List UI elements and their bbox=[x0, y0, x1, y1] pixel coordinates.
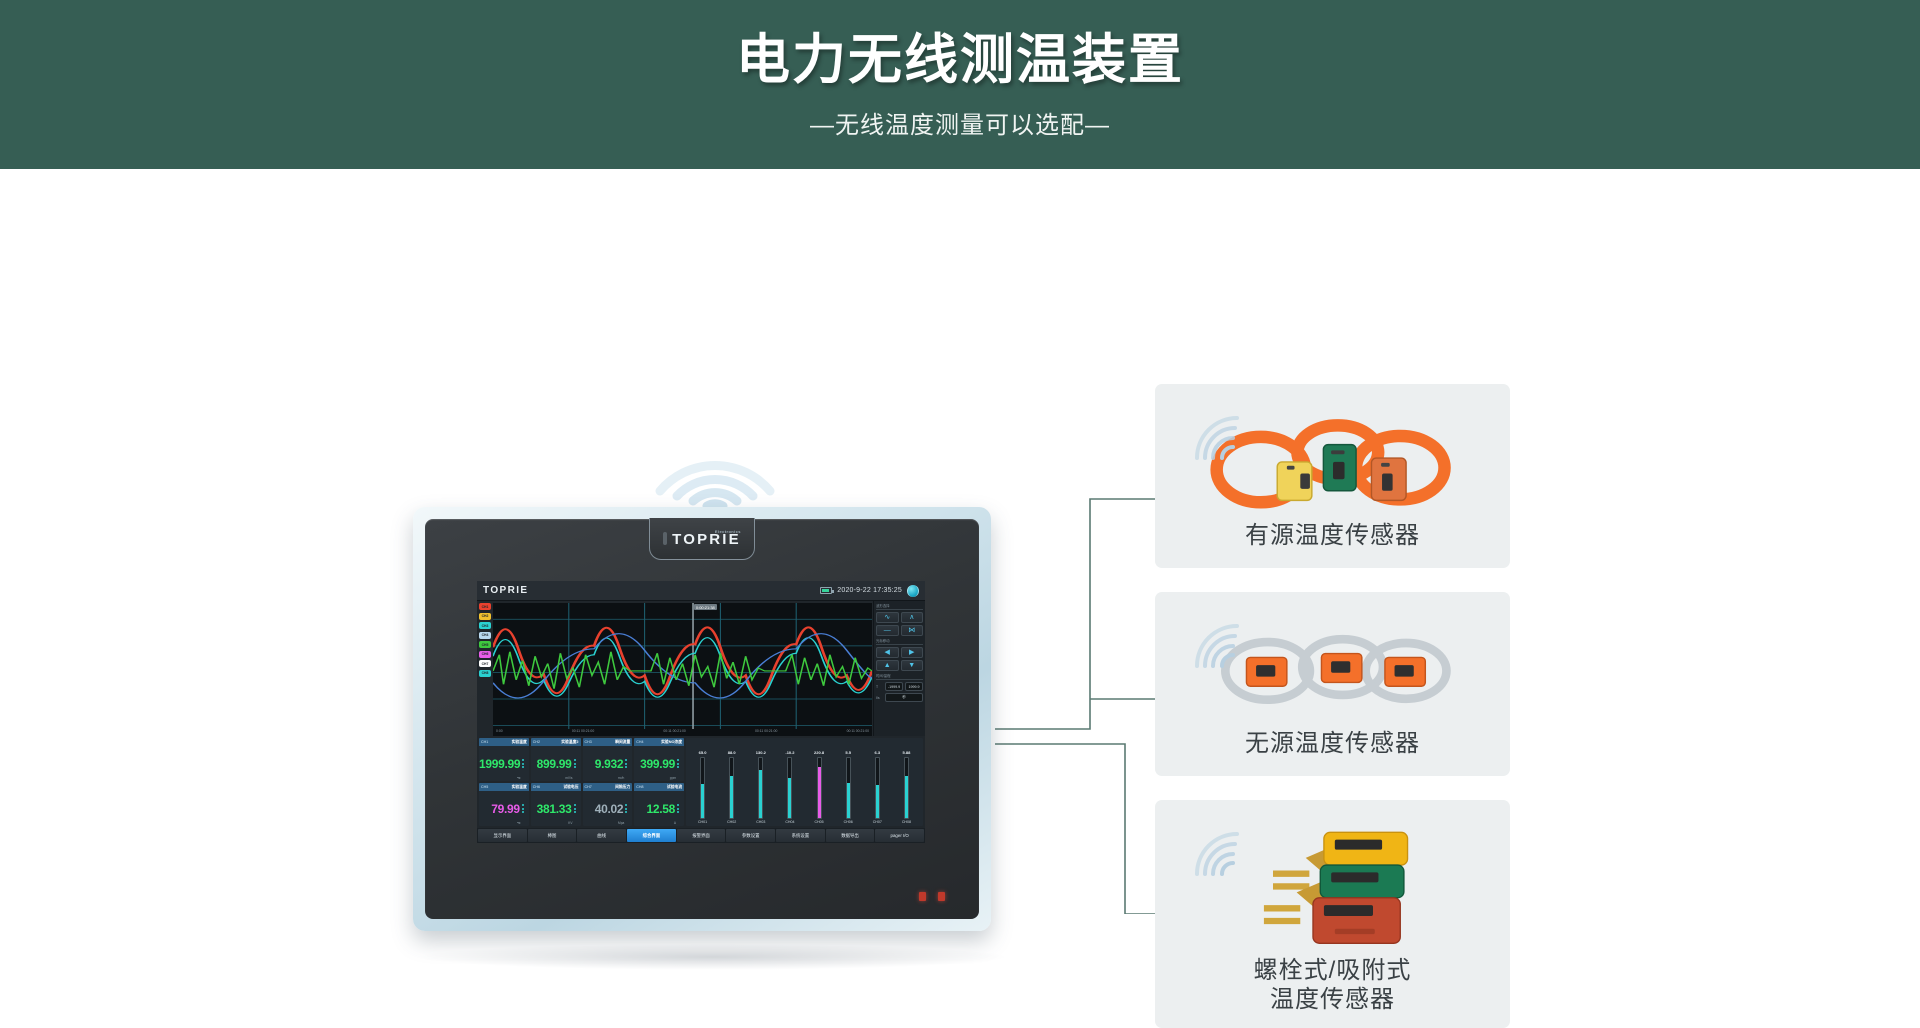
nav-button-group: ◀▶▲▼ bbox=[876, 647, 923, 671]
status-led-1 bbox=[919, 892, 926, 901]
page-title: 电力无线测温装置 bbox=[736, 29, 1184, 91]
bar-gauge[interactable]: 6.3CH07 bbox=[868, 750, 886, 824]
channel-chip-ch6[interactable]: CH6 bbox=[479, 651, 491, 658]
screen-tab[interactable]: 综合界面 bbox=[627, 829, 676, 842]
bar-gauge-track bbox=[729, 757, 734, 819]
nav-button-1[interactable]: ◀ bbox=[876, 647, 899, 658]
channel-value-body: 9.932m³/h bbox=[583, 746, 633, 781]
bar-gauge[interactable]: 130.2CH03 bbox=[752, 750, 770, 824]
channel-unit: m³/h bbox=[618, 776, 624, 780]
channel-chip-ch3[interactable]: CH3 bbox=[479, 622, 491, 629]
bar-gauge-value: 65.0 bbox=[699, 750, 707, 755]
bar-gauge-fill bbox=[730, 776, 733, 818]
channel-indicator-dots bbox=[574, 759, 579, 768]
bar-gauge-panel: 65.0CH0188.0CH02130.2CH03-10.2CH04220.8C… bbox=[686, 738, 923, 826]
nav-button-3[interactable]: ▲ bbox=[876, 660, 899, 671]
bar-gauge-fill bbox=[876, 785, 879, 817]
control-section-range: 时间/量程 bbox=[876, 673, 923, 680]
bar-gauge-track bbox=[904, 757, 909, 819]
channel-id: CH4 bbox=[636, 740, 643, 744]
active-sensor-art bbox=[1165, 400, 1500, 521]
bar-gauge-track bbox=[875, 757, 880, 819]
channel-value-body: 12.58A bbox=[634, 791, 684, 826]
channel-unit: A bbox=[674, 821, 676, 825]
channel-name: 实验NO浓度 bbox=[661, 740, 682, 745]
bar-gauge-label: CH06 bbox=[844, 820, 853, 824]
channel-value-cell[interactable]: CH8试验电流12.58A bbox=[634, 783, 684, 826]
nav-button-2[interactable]: ▶ bbox=[901, 647, 924, 658]
wave-button-1[interactable]: ∿ bbox=[876, 612, 899, 623]
x-tick-label: 0:00 bbox=[496, 729, 503, 736]
sensor-card-list: 有源温度传感器 bbox=[1155, 384, 1510, 1028]
control-section-nav: 光标移动 bbox=[876, 638, 923, 645]
channel-legend: CH1CH2CH3CH4CH5CH6CH7CH8 bbox=[477, 601, 493, 736]
bolt-sensors-illustration bbox=[1233, 816, 1433, 956]
channel-id: CH1 bbox=[481, 740, 488, 744]
channel-id: CH2 bbox=[533, 740, 540, 744]
channel-value-cell[interactable]: CH7间隙压力40.02Mpa bbox=[583, 783, 633, 826]
channel-value-cell[interactable]: CH3瞬间流量9.932m³/h bbox=[583, 738, 633, 781]
channel-name: 间隙压力 bbox=[615, 785, 630, 790]
wifi-signal-icon bbox=[1191, 414, 1249, 462]
channel-value-body: 399.99ppm bbox=[634, 746, 684, 781]
screen-tab[interactable]: 参数设置 bbox=[726, 829, 775, 842]
channel-value-header: CH7间隙压力 bbox=[583, 783, 633, 791]
wifi-signal-icon bbox=[640, 399, 790, 509]
channel-name: 试验电流 bbox=[667, 785, 682, 790]
channel-chip-ch4[interactable]: CH4 bbox=[479, 632, 491, 639]
bar-gauge-track bbox=[846, 757, 851, 819]
trend-chart-svg bbox=[493, 603, 872, 736]
channel-unit: Mpa bbox=[618, 821, 624, 825]
device-brand: Electronics TOPRIE bbox=[672, 529, 741, 548]
screen-middle: CH1CH2CH3CH4CH5CH6CH7CH8 bbox=[477, 601, 925, 736]
bar-gauge-track bbox=[787, 757, 792, 819]
channel-indicator-dots bbox=[522, 804, 527, 813]
screen-status-bar: TOPRIE 2020-9-22 17:35:25 bbox=[477, 581, 925, 601]
channel-id: CH6 bbox=[533, 785, 540, 789]
sensor-card-label: 有源温度传感器 bbox=[1245, 521, 1420, 550]
channel-value-grid: CH1实验温度1999.99℃CH2实验温度2899.99mV/sCH3瞬间流量… bbox=[479, 738, 684, 826]
device-led-group bbox=[919, 892, 945, 901]
channel-value: 79.99 bbox=[491, 802, 520, 816]
channel-value: 9.932 bbox=[595, 757, 624, 771]
device-logo-plate: Electronics TOPRIE bbox=[649, 518, 755, 560]
channel-id: CH7 bbox=[585, 785, 592, 789]
range-row2-label: I/s bbox=[876, 696, 883, 700]
channel-value: 381.33 bbox=[537, 802, 572, 816]
passive-sensor-art bbox=[1165, 608, 1500, 729]
bar-gauge-value: 5.5 bbox=[845, 750, 851, 755]
channel-chip-ch1[interactable]: CH1 bbox=[479, 603, 491, 610]
range-row-2: I/s 秒 bbox=[876, 693, 923, 702]
bar-gauge[interactable]: 5.5CH06 bbox=[839, 750, 857, 824]
screen-tab[interactable]: 数据导出 bbox=[826, 829, 875, 842]
datetime-label: 2020-9-22 17:35:25 bbox=[837, 587, 902, 594]
screen-tab[interactable]: 显示界面 bbox=[478, 829, 527, 842]
channel-value-cell[interactable]: CH6试验电压381.33KV bbox=[531, 783, 581, 826]
channel-value: 399.99 bbox=[640, 757, 675, 771]
channel-value-body: 40.02Mpa bbox=[583, 791, 633, 826]
bar-gauge-value: 220.8 bbox=[814, 750, 824, 755]
bar-gauge-label: CH05 bbox=[814, 820, 823, 824]
wave-button-3[interactable]: — bbox=[876, 625, 899, 636]
range-row-1: T -1999.9 1999.9 bbox=[876, 682, 923, 691]
screen-tab[interactable]: pager I/O bbox=[875, 829, 924, 842]
bar-gauge-label: CH07 bbox=[873, 820, 882, 824]
channel-value: 40.02 bbox=[595, 802, 624, 816]
screen-brand: TOPRIE bbox=[483, 585, 528, 596]
x-tick-label: 00:11 00:21:00 bbox=[572, 729, 594, 736]
status-led-2 bbox=[938, 892, 945, 901]
bar-gauge-fill bbox=[759, 770, 762, 818]
bar-gauge-label: CH02 bbox=[727, 820, 736, 824]
sensor-card-label: 螺栓式/吸附式 温度传感器 bbox=[1254, 956, 1412, 1015]
channel-id: CH8 bbox=[636, 785, 643, 789]
hmi-screen[interactable]: TOPRIE 2020-9-22 17:35:25 CH1CH2CH3CH4CH… bbox=[477, 581, 925, 843]
device-brand-text: TOPRIE bbox=[672, 531, 741, 548]
nav-button-4[interactable]: ▼ bbox=[901, 660, 924, 671]
channel-value-header: CH3瞬间流量 bbox=[583, 738, 633, 746]
chart-control-panel: 波形选择 ∿∧—⋈ 光标移动 ◀▶▲▼ 时间/量程 T -1999.9 1999… bbox=[873, 601, 925, 736]
bar-gauge[interactable]: 88.0CH02 bbox=[723, 750, 741, 824]
bar-gauge-value: 5.88 bbox=[903, 750, 911, 755]
page-header: 电力无线测温装置 —无线温度测量可以选配— bbox=[0, 0, 1920, 169]
bar-gauge-track bbox=[758, 757, 763, 819]
bar-gauge-fill bbox=[701, 784, 704, 818]
sensor-card-label: 无源温度传感器 bbox=[1245, 729, 1420, 758]
sensor-card-active[interactable]: 有源温度传感器 bbox=[1155, 384, 1510, 568]
bar-gauge[interactable]: 220.8CH05 bbox=[810, 750, 828, 824]
channel-unit: ppm bbox=[670, 776, 676, 780]
channel-name: 实验温度2 bbox=[561, 740, 578, 745]
screen-tab-bar: 显示界面棒图曲线综合界面报警界面参数设置系统设置数据导出pager I/O bbox=[477, 828, 925, 843]
bar-gauge-track bbox=[817, 757, 822, 819]
cursor-time-label: 0:00:21:38 bbox=[694, 604, 717, 610]
channel-chip-ch5[interactable]: CH5 bbox=[479, 641, 491, 648]
bar-gauge[interactable]: -10.2CH04 bbox=[781, 750, 799, 824]
channel-chip-ch2[interactable]: CH2 bbox=[479, 613, 491, 620]
bar-gauge[interactable]: 65.0CH01 bbox=[694, 750, 712, 824]
screen-tab[interactable]: 曲线 bbox=[577, 829, 626, 842]
device-shadow bbox=[415, 944, 1010, 970]
hmi-bezel: Electronics TOPRIE TOPRIE 2020-9-22 17:3… bbox=[425, 519, 979, 919]
bar-gauge-value: -10.2 bbox=[785, 750, 794, 755]
bar-gauge-fill bbox=[818, 767, 821, 817]
content-stage: Electronics TOPRIE TOPRIE 2020-9-22 17:3… bbox=[0, 169, 1920, 914]
channel-value-body: 899.99mV/s bbox=[531, 746, 581, 781]
channel-unit: KV bbox=[568, 821, 572, 825]
bar-gauge-label: CH01 bbox=[698, 820, 707, 824]
channel-value-header: CH8试验电流 bbox=[634, 783, 684, 791]
bar-gauge-value: 88.0 bbox=[728, 750, 736, 755]
channel-value-header: CH6试验电压 bbox=[531, 783, 581, 791]
screen-tab[interactable]: 系统设置 bbox=[776, 829, 825, 842]
channel-name: 瞬间流量 bbox=[615, 740, 630, 745]
trend-chart[interactable]: 0:00:21:38 0:0000:11 00:21:0000:11 00:21… bbox=[493, 603, 872, 736]
channel-value-body: 1999.99℃ bbox=[479, 746, 529, 781]
channel-name: 试验电压 bbox=[563, 785, 578, 790]
channel-value-cell[interactable]: CH4实验NO浓度399.99ppm bbox=[634, 738, 684, 781]
bar-gauge-value: 6.3 bbox=[875, 750, 881, 755]
range-unit[interactable]: 秒 bbox=[885, 693, 923, 702]
channel-value-header: CH2实验温度2 bbox=[531, 738, 581, 746]
channel-value-body: 381.33KV bbox=[531, 791, 581, 826]
hmi-device: Electronics TOPRIE TOPRIE 2020-9-22 17:3… bbox=[413, 507, 991, 931]
channel-value-body: 79.99℃ bbox=[479, 791, 529, 826]
channel-value: 12.58 bbox=[646, 802, 675, 816]
channel-value-cell[interactable]: CH5实验温度79.99℃ bbox=[479, 783, 529, 826]
range-row1-label: T bbox=[876, 685, 883, 689]
channel-name: 实验温度 bbox=[512, 785, 527, 790]
channel-unit: mV/s bbox=[565, 776, 572, 780]
channel-value-cell[interactable]: CH1实验温度1999.99℃ bbox=[479, 738, 529, 781]
channel-unit: ℃ bbox=[517, 776, 521, 780]
channel-value-header: CH5实验温度 bbox=[479, 783, 529, 791]
channel-id: CH5 bbox=[481, 785, 488, 789]
bar-gauge-fill bbox=[847, 783, 850, 818]
channel-chip-ch7[interactable]: CH7 bbox=[479, 660, 491, 667]
channel-indicator-dots bbox=[625, 804, 630, 813]
wifi-signal-icon bbox=[1191, 622, 1249, 670]
sensor-card-passive[interactable]: 无源温度传感器 bbox=[1155, 592, 1510, 776]
channel-indicator-dots bbox=[677, 804, 682, 813]
wave-button-2[interactable]: ∧ bbox=[901, 612, 924, 623]
control-section-wave: 波形选择 bbox=[876, 603, 923, 610]
wifi-signal-icon bbox=[1191, 830, 1249, 878]
bar-gauge-fill bbox=[788, 778, 791, 818]
screen-tab[interactable]: 报警界面 bbox=[677, 829, 726, 842]
status-group: 2020-9-22 17:35:25 bbox=[820, 585, 919, 597]
x-tick-label: 00:11 00:21:00 bbox=[663, 729, 685, 736]
range-value-2[interactable]: 1999.9 bbox=[905, 682, 923, 691]
wave-button-group: ∿∧—⋈ bbox=[876, 612, 923, 636]
bar-gauge-fill bbox=[905, 776, 908, 818]
bar-gauge-label: CH08 bbox=[902, 820, 911, 824]
battery-icon bbox=[820, 587, 832, 594]
bar-gauge-value: 130.2 bbox=[756, 750, 766, 755]
channel-indicator-dots bbox=[677, 759, 682, 768]
channel-chip-ch8[interactable]: CH8 bbox=[479, 670, 491, 677]
channel-value-header: CH4实验NO浓度 bbox=[634, 738, 684, 746]
channel-value-cell[interactable]: CH2实验温度2899.99mV/s bbox=[531, 738, 581, 781]
screen-tab[interactable]: 棒图 bbox=[528, 829, 577, 842]
sensor-card-bolt[interactable]: 螺栓式/吸附式 温度传感器 bbox=[1155, 800, 1510, 1028]
bar-gauge-label: CH04 bbox=[785, 820, 794, 824]
globe-icon[interactable] bbox=[907, 585, 919, 597]
channel-name: 实验温度 bbox=[512, 740, 527, 745]
screen-data-area: CH1实验温度1999.99℃CH2实验温度2899.99mV/sCH3瞬间流量… bbox=[477, 736, 925, 828]
x-tick-label: 00:11 00:21:00 bbox=[755, 729, 777, 736]
bolt-sensor-art bbox=[1165, 816, 1500, 956]
bar-gauge[interactable]: 5.88CH08 bbox=[897, 750, 915, 824]
range-value-1[interactable]: -1999.9 bbox=[885, 682, 903, 691]
channel-value: 899.99 bbox=[537, 757, 572, 771]
channel-indicator-dots bbox=[522, 759, 526, 768]
chart-x-axis: 0:0000:11 00:21:0000:11 00:21:0000:11 00… bbox=[493, 729, 872, 736]
page-subtitle: —无线温度测量可以选配— bbox=[810, 105, 1110, 140]
channel-value-header: CH1实验温度 bbox=[479, 738, 529, 746]
x-tick-label: 00:11 00:21:00 bbox=[847, 729, 869, 736]
channel-unit: ℃ bbox=[517, 821, 521, 825]
wave-button-4[interactable]: ⋈ bbox=[901, 625, 924, 636]
channel-indicator-dots bbox=[625, 759, 630, 768]
bar-gauge-label: CH03 bbox=[756, 820, 765, 824]
channel-indicator-dots bbox=[574, 804, 579, 813]
plate-slot bbox=[663, 532, 667, 545]
channel-value: 1999.99 bbox=[479, 757, 520, 771]
channel-id: CH3 bbox=[585, 740, 592, 744]
bar-gauge-track bbox=[700, 757, 705, 819]
